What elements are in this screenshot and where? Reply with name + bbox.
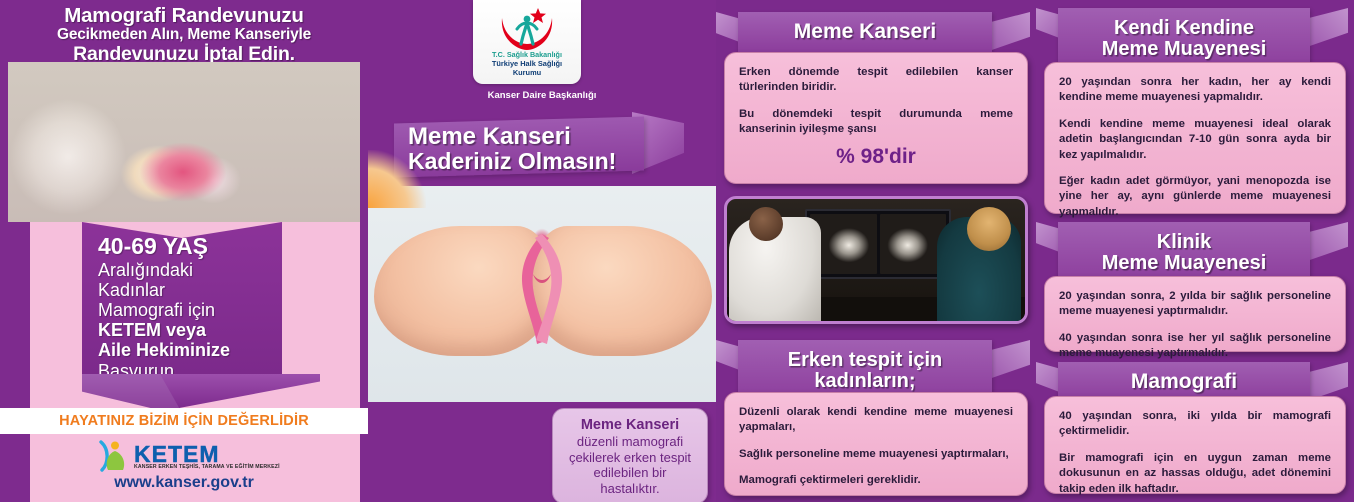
- card-erken-tespit-p2: Sağlık personeline meme muayenesi yaptır…: [739, 447, 1013, 462]
- card-meme-kanseri-p2: Bu dönemdeki tespit durumunda meme kanse…: [739, 107, 1013, 138]
- left-header-line2: Gecikmeden Alın, Meme Kanseriyle: [0, 26, 368, 44]
- ministry-line3-text: Kurumu: [513, 68, 541, 77]
- callout-line6: Aile Hekiminize: [98, 340, 272, 360]
- card-meme-kanseri: Erken dönemde tespit edilebilen kanser t…: [724, 52, 1028, 184]
- card-erken-tespit-p3: Mamografi çektirmeleri gereklidir.: [739, 473, 1013, 488]
- card-mamografi-p1: 40 yaşından sonra, iki yılda bir mamogra…: [1059, 409, 1331, 440]
- card-mamografi: 40 yaşından sonra, iki yılda bir mamogra…: [1044, 396, 1346, 494]
- card-kendi-kendine: 20 yaşından sonra her kadın, her ay kend…: [1044, 62, 1346, 214]
- header-erken-tespit: Erken tespit için kadınların;: [716, 334, 1036, 398]
- doctor-head: [749, 207, 783, 241]
- middle-title: Meme Kanseri Kaderiniz Olmasın!: [408, 124, 654, 173]
- slogan-bar: HAYATINIZ BİZİM İÇİN DEĞERLİDİR: [0, 408, 368, 434]
- age-range-callout: 40-69 YAŞ Aralığındaki Kadınlar Mamograf…: [82, 222, 282, 374]
- left-panel: Mamografi Randevunuzu Gecikmeden Alın, M…: [0, 0, 368, 502]
- card-kendi-kendine-p2: Kendi kendine meme muayenesi ideal olara…: [1059, 117, 1331, 163]
- header-klinik-line2: Meme Muayenesi: [1102, 253, 1267, 274]
- callout-line5: KETEM veya: [98, 320, 272, 340]
- header-kendi-kendine-title: Kendi Kendine Meme Muayenesi: [1058, 8, 1310, 70]
- content-column-b: Kendi Kendine Meme Muayenesi 20 yaşından…: [1036, 0, 1354, 502]
- header-erken-tespit-line1: Erken tespit için: [788, 350, 943, 371]
- couple-with-flowers-photo: [8, 62, 360, 222]
- patient-head: [967, 207, 1011, 251]
- doctor-showing-mammogram-photo: [724, 196, 1028, 324]
- card-erken-tespit-p1: Düzenli olarak kendi kendine meme muayen…: [739, 405, 1013, 436]
- left-strip-right: [360, 222, 368, 408]
- header-klinik-title: Klinik Meme Muayenesi: [1058, 222, 1310, 284]
- poster-canvas: Mamografi Randevunuzu Gecikmeden Alın, M…: [0, 0, 1354, 502]
- card-klinik-p1: 20 yaşından sonra, 2 yılda bir sağlık pe…: [1059, 289, 1331, 320]
- header-klinik: Klinik Meme Muayenesi: [1036, 216, 1354, 280]
- hands-holding-pink-ribbon-photo: [368, 186, 716, 402]
- ketem-figure-icon: [96, 440, 132, 472]
- photo-overlay: [8, 62, 360, 222]
- banner-notch-right: [1304, 8, 1348, 48]
- header-erken-tespit-line2: kadınların;: [814, 371, 915, 392]
- header-kendi-kendine-line2: Meme Muayenesi: [1102, 39, 1267, 60]
- callout-line4: Mamografi için: [98, 300, 272, 320]
- card-erken-tespit: Düzenli olarak kendi kendine meme muayen…: [724, 392, 1028, 496]
- ketem-tagline: KANSER ERKEN TEŞHİS, TARAMA VE EĞİTİM ME…: [134, 464, 280, 470]
- card-mamografi-p2: Bir mamografi için en uygun zaman meme d…: [1059, 451, 1331, 497]
- ministry-of-health-logo: T.C. Sağlık Bakanlığı Türkiye Halk Sağlı…: [473, 0, 581, 84]
- header-klinik-line1: Klinik: [1157, 232, 1211, 253]
- mammogram-monitor: [805, 209, 951, 279]
- banner-notch-right: [986, 340, 1030, 380]
- survival-rate-stat: % 98'dir: [739, 145, 1013, 169]
- slogan-text: HAYATINIZ BİZİM İÇİN DEĞERLİDİR: [59, 413, 309, 429]
- middle-note-card: Meme Kanseri düzenli mamografi çekilerek…: [552, 408, 708, 502]
- banner-notch-right: [1304, 222, 1348, 262]
- middle-title-line2: Kaderiniz Olmasın!: [408, 149, 654, 173]
- ministry-line2: Türkiye Halk Sağlığı Kurumu: [473, 60, 581, 77]
- header-meme-kanseri: Meme Kanseri: [716, 6, 1036, 52]
- left-strip-left: [0, 222, 30, 408]
- callout-line2: Aralığındaki: [98, 260, 272, 280]
- header-meme-kanseri-title: Meme Kanseri: [738, 12, 992, 52]
- middle-note-text: düzenli mamografi çekilerek erken tespit…: [563, 434, 697, 496]
- ketem-logo: KETEM KANSER ERKEN TEŞHİS, TARAMA VE EĞİ…: [96, 440, 296, 472]
- card-meme-kanseri-p1: Erken dönemde tespit edilebilen kanser t…: [739, 65, 1013, 96]
- banner-notch-right: [986, 12, 1030, 52]
- ministry-subtitle: Kanser Daire Başkanlığı: [368, 90, 716, 101]
- callout-line1: 40-69 YAŞ: [98, 234, 272, 260]
- orange-corner-accent: [368, 150, 426, 208]
- content-column-a: Meme Kanseri Erken dönemde tespit edileb…: [716, 0, 1036, 502]
- middle-note-bold: Meme Kanseri: [563, 417, 697, 434]
- ministry-line1: T.C. Sağlık Bakanlığı: [473, 50, 581, 59]
- callout-line3: Kadınlar: [98, 280, 272, 300]
- header-kendi-kendine-line1: Kendi Kendine: [1114, 18, 1254, 39]
- ketem-website-url[interactable]: www.kanser.gov.tr: [0, 474, 368, 492]
- health-ministry-emblem-icon: [492, 6, 562, 52]
- pink-ribbon-icon: [493, 228, 591, 348]
- left-panel-header: Mamografi Randevunuzu Gecikmeden Alın, M…: [0, 0, 368, 62]
- left-header-line1: Mamografi Randevunuzu: [0, 4, 368, 28]
- card-kendi-kendine-p3: Eğer kadın adet görmüyor, yani menopozda…: [1059, 174, 1331, 220]
- card-kendi-kendine-p1: 20 yaşından sonra her kadın, her ay kend…: [1059, 75, 1331, 106]
- card-klinik: 20 yaşından sonra, 2 yılda bir sağlık pe…: [1044, 276, 1346, 352]
- middle-panel: T.C. Sağlık Bakanlığı Türkiye Halk Sağlı…: [368, 0, 716, 502]
- middle-title-line1: Meme Kanseri: [408, 124, 654, 149]
- header-kendi-kendine: Kendi Kendine Meme Muayenesi: [1036, 2, 1354, 66]
